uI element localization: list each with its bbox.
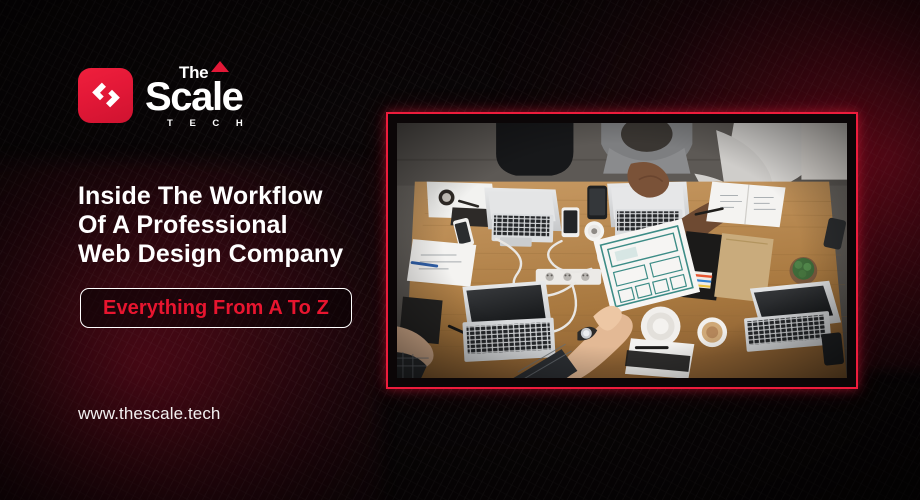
headline-line-2: Of A Professional xyxy=(78,211,343,240)
headline-line-1: Inside The Workflow xyxy=(78,182,343,211)
tagline-badge: Everything From A To Z xyxy=(80,288,352,328)
team-workspace-photo xyxy=(397,123,847,378)
brand-wordmark: The Scale T E C H xyxy=(145,62,250,128)
tagline-text: Everything From A To Z xyxy=(103,297,329,320)
site-url[interactable]: www.thescale.tech xyxy=(78,404,221,424)
caret-up-icon xyxy=(211,61,229,72)
brand-name-sub: T E C H xyxy=(145,119,250,129)
code-diamond-icon xyxy=(78,68,133,123)
brand-name-main: Scale xyxy=(145,79,250,116)
photo-frame xyxy=(386,112,858,389)
headline-line-3: Web Design Company xyxy=(78,240,343,269)
headline: Inside The Workflow Of A Professional We… xyxy=(78,182,343,269)
marketing-banner: The Scale T E C H Inside The Workflow Of… xyxy=(0,0,920,500)
brand-logo[interactable]: The Scale T E C H xyxy=(78,62,250,128)
